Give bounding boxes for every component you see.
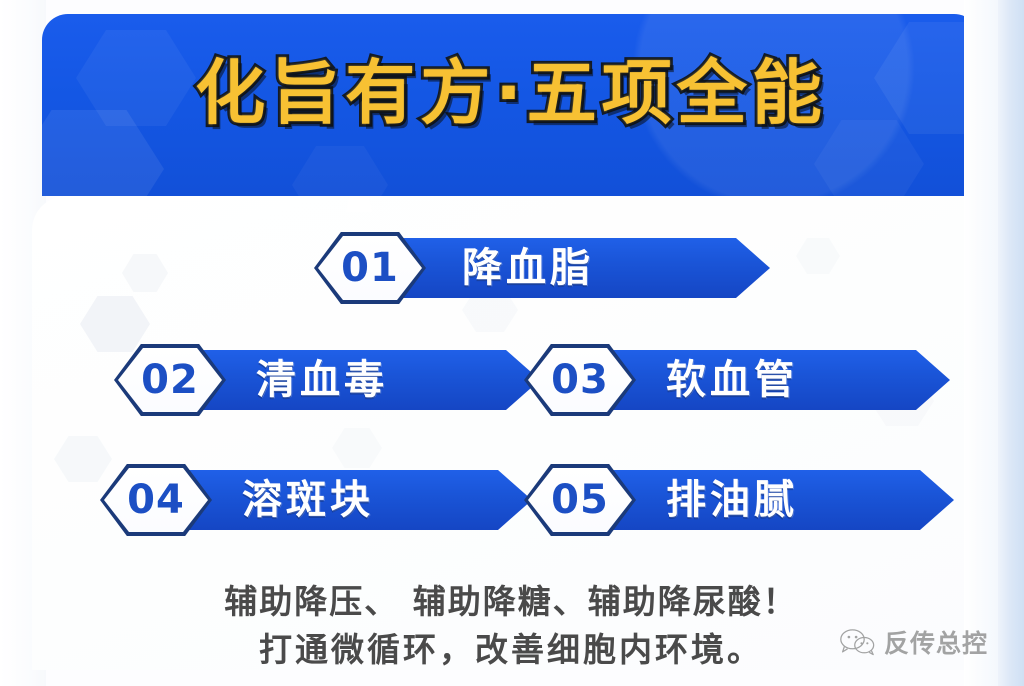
feature-label: 降血脂	[462, 248, 594, 288]
feature-number-badge-inner: 03	[528, 348, 632, 412]
feature-number: 03	[551, 360, 609, 400]
hexagon-decoration-icon	[292, 146, 388, 196]
feature-number: 04	[127, 480, 185, 520]
feature-number: 01	[341, 248, 399, 288]
feature-number: 05	[551, 480, 609, 520]
feature-label: 软血管	[666, 360, 798, 400]
hexagon-watermark-icon	[332, 428, 382, 468]
hexagon-decoration-icon	[814, 120, 924, 196]
watermark-label: 反传总控	[884, 624, 988, 660]
card-notch	[336, 196, 382, 212]
poster-title: 化旨有方·五项全能	[42, 58, 980, 128]
feature-number-badge-inner: 02	[118, 348, 222, 412]
feature-item-04: 04 溶斑块	[100, 464, 374, 536]
wechat-watermark: 反传总控	[839, 624, 988, 660]
feature-label: 清血毒	[256, 360, 388, 400]
feature-number-badge-inner: 04	[104, 468, 208, 532]
feature-item-05: 05 排油腻	[524, 464, 798, 536]
feature-label: 溶斑块	[242, 480, 374, 520]
feature-number: 02	[141, 360, 199, 400]
feature-item-03: 03 软血管	[524, 344, 798, 416]
feature-number-badge-inner: 05	[528, 468, 632, 532]
poster-header: 化旨有方·五项全能	[42, 14, 980, 196]
feature-label: 排油腻	[666, 480, 798, 520]
hexagon-watermark-icon	[796, 238, 840, 274]
promo-poster: 化旨有方·五项全能 01 降血脂 02	[0, 0, 1024, 686]
feature-number-badge-inner: 01	[318, 236, 422, 300]
footer-line-1: 辅助降压、 辅助降糖、辅助降尿酸！	[32, 578, 990, 626]
feature-item-01: 01 降血脂	[314, 232, 594, 304]
features-card: 01 降血脂 02 清血毒 03 软血管	[32, 196, 990, 670]
wechat-icon	[839, 627, 875, 657]
feature-item-02: 02 清血毒	[114, 344, 388, 416]
page-right-edge-strip	[998, 0, 1024, 686]
hexagon-watermark-icon	[122, 254, 168, 292]
